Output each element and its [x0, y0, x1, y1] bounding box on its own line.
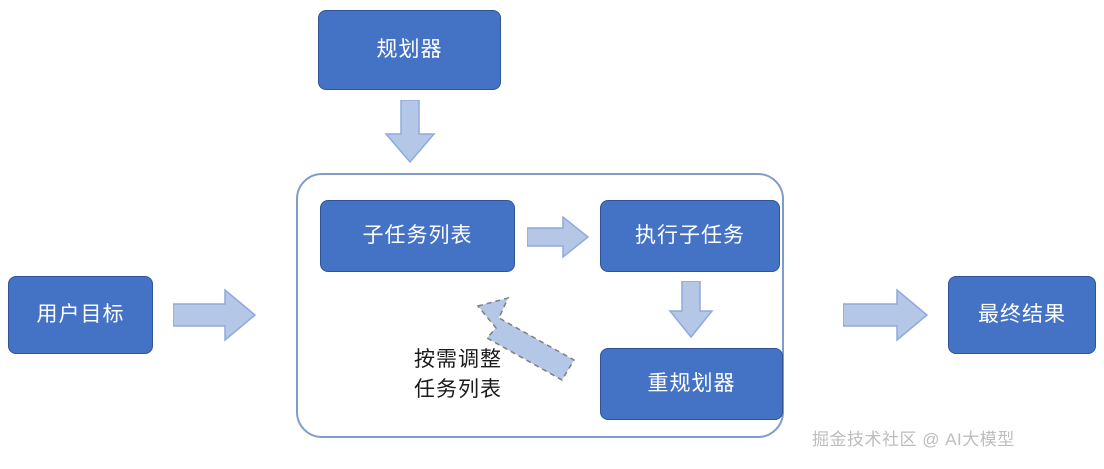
arrow-execute-to-replanner: [668, 281, 714, 339]
annotation-adjust-note: 按需调整 任务列表: [358, 345, 558, 406]
node-execute-subtask[interactable]: 执行子任务: [600, 200, 780, 272]
arrow-loop-to-final: [843, 288, 929, 342]
node-final-result-label: 最终结果: [978, 302, 1066, 327]
arrow-subtasklist-to-execute: [527, 215, 590, 259]
node-execute-subtask-label: 执行子任务: [635, 223, 745, 248]
watermark-label: 掘金技术社区 @ AI大模型: [812, 425, 1015, 450]
node-user-goal[interactable]: 用户目标: [8, 276, 153, 354]
node-planner[interactable]: 规划器: [318, 10, 501, 90]
arrow-usergoal-to-loop: [173, 288, 257, 342]
node-replanner[interactable]: 重规划器: [600, 348, 783, 420]
node-subtask-list-label: 子任务列表: [363, 223, 473, 248]
diagram-canvas: 规划器 用户目标 子任务列表 执行子任务 重规划器 按需调整 任务列表: [0, 0, 1104, 469]
node-user-goal-label: 用户目标: [37, 302, 125, 327]
node-final-result[interactable]: 最终结果: [948, 276, 1096, 354]
node-replanner-label: 重规划器: [648, 371, 736, 396]
arrow-planner-to-loop: [384, 100, 436, 164]
node-subtask-list[interactable]: 子任务列表: [320, 200, 515, 272]
node-planner-label: 规划器: [377, 37, 443, 62]
